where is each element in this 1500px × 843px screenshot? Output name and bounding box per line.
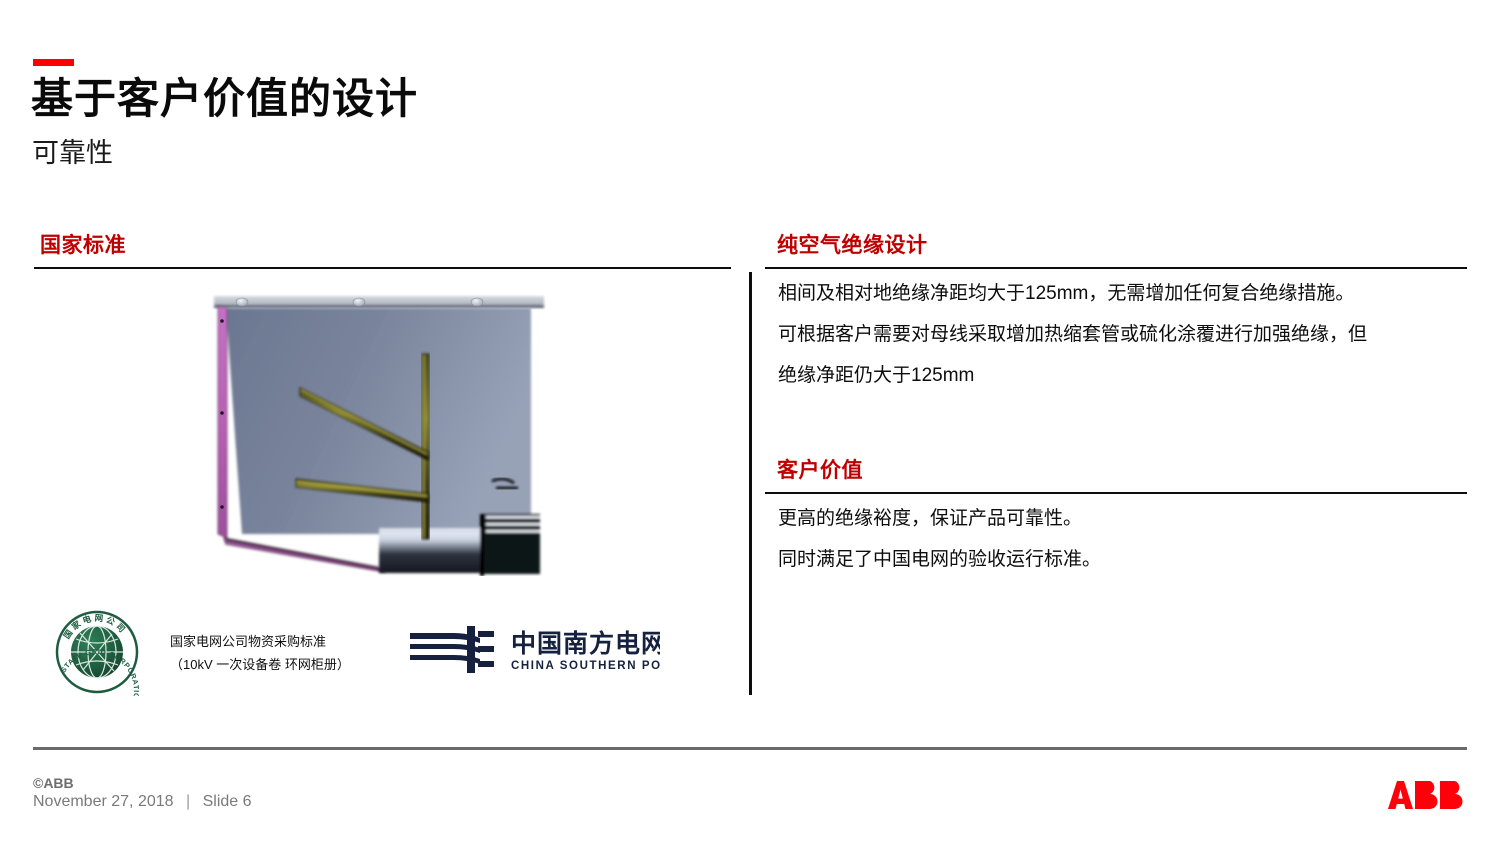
- page-title: 基于客户价值的设计: [31, 74, 418, 124]
- abb-wordmark-icon: [1388, 781, 1468, 809]
- left-column-heading: 国家标准: [40, 229, 126, 259]
- page-subtitle: 可靠性: [32, 136, 113, 170]
- right-section-1-rule: [765, 267, 1467, 269]
- footer-separator: |: [178, 793, 198, 810]
- left-column-rule: [34, 267, 731, 269]
- column-divider: [749, 272, 752, 695]
- right-section-2-rule: [765, 492, 1467, 494]
- footer-date: November 27, 2018: [33, 793, 174, 810]
- footer-rule: [33, 747, 1467, 750]
- state-grid-globe-icon: STATE GRID CORPORATION OF CHINA 国家电网公司: [52, 608, 142, 696]
- right-section-2-line-1: 更高的绝缘裕度，保证产品可靠性。: [778, 506, 1082, 532]
- footer-slide-number: Slide 6: [203, 793, 252, 810]
- csg-name-cn: 中国南方电网: [511, 629, 660, 658]
- right-section-2-heading: 客户价值: [777, 454, 863, 484]
- china-southern-power-grid-logo: 中国南方电网 CHINA SOUTHERN POWER GRID: [408, 622, 660, 677]
- right-section-1-line-3: 绝缘净距仍大于125mm: [778, 363, 974, 389]
- right-section-1-line-2: 可根据客户需要对母线采取增加热缩套管或硫化涂覆进行加强绝缘，但: [778, 322, 1367, 348]
- slide-canvas: 基于客户价值的设计 可靠性 国家标准: [0, 0, 1500, 843]
- right-section-2-line-2: 同时满足了中国电网的验收运行标准。: [778, 547, 1101, 573]
- product-cad-image: [196, 276, 556, 576]
- csg-name-en: CHINA SOUTHERN POWER GRID: [511, 660, 660, 672]
- state-grid-caption-line-2: （10kV 一次设备卷 环网柜册）: [170, 653, 360, 676]
- footer-meta: November 27, 2018 | Slide 6: [33, 793, 252, 811]
- state-grid-caption: 国家电网公司物资采购标准 （10kV 一次设备卷 环网柜册）: [170, 630, 360, 676]
- state-grid-logo: STATE GRID CORPORATION OF CHINA 国家电网公司: [52, 608, 142, 696]
- csg-mark-icon: 中国南方电网 CHINA SOUTHERN POWER GRID: [408, 622, 660, 677]
- abb-logo: [1388, 781, 1468, 809]
- title-accent-bar: [33, 59, 74, 66]
- right-section-1-heading: 纯空气绝缘设计: [777, 229, 928, 259]
- footer-copyright: ©ABB: [33, 775, 74, 791]
- state-grid-caption-line-1: 国家电网公司物资采购标准: [170, 630, 360, 653]
- product-cad-illustration: [196, 276, 556, 576]
- right-section-1-line-1: 相间及相对地绝缘净距均大于125mm，无需增加任何复合绝缘措施。: [778, 281, 1354, 307]
